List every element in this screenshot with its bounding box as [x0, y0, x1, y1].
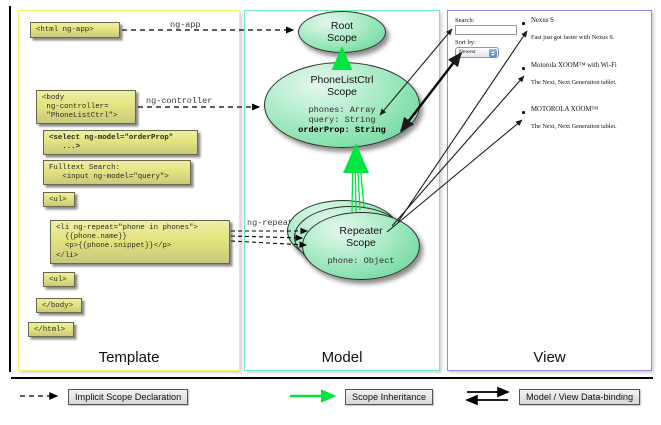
template-column: Template — [18, 10, 240, 371]
sort-by-selected-value: Newest — [459, 49, 476, 55]
angular-scope-diagram: Template Model View <html ng-app> <body … — [0, 0, 661, 425]
view-column-label: View — [448, 349, 651, 366]
phone-bullet-icon — [522, 22, 525, 25]
ul-open-box: <ul> — [43, 192, 75, 207]
select-tag-box: <select ng-model="orderProp" ...> — [43, 130, 198, 155]
ng-repeat-label: ng-repeat — [247, 218, 293, 228]
phone-snippet: Fast just got faster with Nexus S. — [531, 34, 614, 41]
root-scope-title-line1: Root — [299, 20, 385, 32]
bottom-horizontal-rule — [11, 377, 653, 379]
ng-controller-label: ng-controller — [146, 96, 212, 106]
search-label: Search: — [455, 17, 475, 24]
chevron-updown-icon — [489, 49, 497, 57]
phone-bullet-icon — [522, 67, 525, 70]
search-input[interactable] — [455, 25, 517, 35]
legend-data-binding-label: Model / View Data-binding — [519, 389, 640, 405]
input-tag-box: Fulltext Search: <input ng-model="query"… — [43, 160, 191, 185]
html-tag-box: <html ng-app> — [30, 22, 120, 38]
body-tag-box: <body ng-controller= "PhoneListCtrl"> — [36, 90, 136, 124]
phone-bullet-icon — [522, 111, 525, 114]
root-scope-title-line2: Scope — [299, 32, 385, 44]
legend-implicit-scope-label: Implicit Scope Declaration — [68, 389, 188, 405]
html-close-box: </html> — [28, 322, 74, 337]
li-repeat-box: <li ng-repeat="phone in phones"> {{phone… — [50, 220, 230, 264]
repeater-prop-phone: phone: Object — [303, 256, 419, 266]
phonelistctrl-scope-title-line1: PhoneListCtrl — [265, 74, 419, 86]
legend-double-arrow-icon — [467, 392, 508, 400]
model-column-label: Model — [245, 349, 439, 366]
left-vertical-rule — [9, 6, 11, 372]
phone-snippet: The Next, Next Generation tablet. — [531, 79, 617, 86]
sort-by-label: Sort by: — [455, 39, 476, 46]
phone-snippet: The Next, Next Generation tablet. — [531, 123, 617, 130]
phonelistctrl-prop-query: query: String — [265, 115, 419, 125]
phone-name: MOTOROLA XOOM™ — [531, 106, 598, 113]
body-close-box: </body> — [36, 298, 82, 313]
repeater-scope-title-line1: Repeater — [303, 225, 419, 237]
sort-by-select[interactable]: Newest — [455, 47, 499, 58]
root-scope: Root Scope — [298, 11, 386, 53]
ul-close-box: <ul> — [43, 272, 75, 287]
phone-name: Motorola XOOM™ with Wi-Fi — [531, 62, 617, 69]
phone-name: Nexus S — [531, 17, 554, 24]
repeater-scope: Repeater Scope phone: Object — [302, 212, 420, 280]
phonelistctrl-scope: PhoneListCtrl Scope phones: Array query:… — [264, 62, 420, 148]
phonelistctrl-prop-orderprop: orderProp: String — [265, 125, 419, 135]
repeater-scope-title-line2: Scope — [303, 237, 419, 249]
ng-app-label: ng-app — [170, 20, 201, 30]
template-column-label: Template — [19, 349, 239, 366]
phonelistctrl-scope-title-line2: Scope — [265, 86, 419, 98]
phonelistctrl-prop-phones: phones: Array — [265, 105, 419, 115]
legend-scope-inheritance-label: Scope Inheritance — [345, 389, 433, 405]
